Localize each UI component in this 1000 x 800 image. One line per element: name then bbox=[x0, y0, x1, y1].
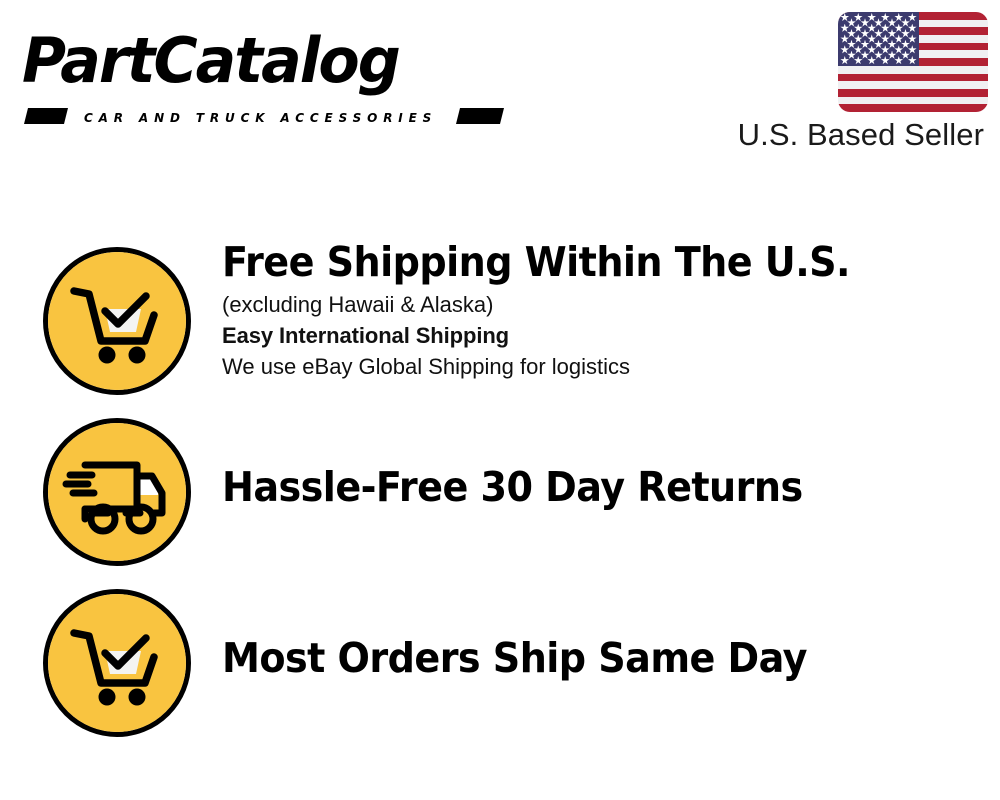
flag-star bbox=[854, 13, 863, 22]
flag-star bbox=[867, 13, 876, 22]
flag-star bbox=[874, 51, 883, 60]
flag-star bbox=[901, 18, 910, 27]
flag-star bbox=[888, 40, 897, 49]
flag-star bbox=[874, 18, 883, 27]
flag-star bbox=[854, 45, 863, 54]
flag-star bbox=[908, 34, 917, 43]
flag-star bbox=[840, 24, 849, 33]
flag-star bbox=[894, 13, 903, 22]
feature-text-block: Most Orders Ship Same Day bbox=[222, 634, 982, 682]
flag-star bbox=[854, 24, 863, 33]
brand-tagline: CAR AND TRUCK ACCESSORIES bbox=[84, 110, 437, 125]
flag-star bbox=[894, 34, 903, 43]
flag-stripe bbox=[838, 104, 988, 112]
flag-star bbox=[840, 13, 849, 22]
flag-star bbox=[901, 40, 910, 49]
us-flag-icon bbox=[838, 12, 988, 112]
brand-wordmark: PartCatalog bbox=[22, 18, 399, 104]
flag-star bbox=[874, 29, 883, 38]
flag-star bbox=[840, 45, 849, 54]
flag-star bbox=[854, 56, 863, 65]
flag-star bbox=[894, 56, 903, 65]
feature-subline: We use eBay Global Shipping for logistic… bbox=[222, 351, 982, 382]
flag-star bbox=[908, 13, 917, 22]
flag-star bbox=[867, 34, 876, 43]
feature-heading: Free Shipping Within The U.S. bbox=[222, 238, 929, 286]
feature-item: Most Orders Ship Same Day bbox=[40, 585, 980, 737]
shopping-cart-check-icon bbox=[43, 589, 191, 737]
banner-header: PartCatalog CAR AND TRUCK ACCESSORIES U.… bbox=[0, 0, 1000, 175]
flag-star bbox=[908, 45, 917, 54]
flag-star bbox=[840, 34, 849, 43]
flag-star bbox=[888, 29, 897, 38]
flag-star bbox=[874, 40, 883, 49]
feature-text-block: Hassle-Free 30 Day Returns bbox=[222, 463, 982, 511]
flag-star bbox=[861, 51, 870, 60]
flag-star bbox=[894, 24, 903, 33]
flag-star bbox=[908, 24, 917, 33]
feature-subline: (excluding Hawaii & Alaska) bbox=[222, 289, 982, 320]
logo-descender-left bbox=[24, 108, 68, 124]
flag-star bbox=[888, 18, 897, 27]
shopping-cart-check-icon bbox=[43, 247, 191, 395]
us-based-seller-label: U.S. Based Seller bbox=[738, 117, 984, 153]
flag-star bbox=[908, 56, 917, 65]
feature-heading: Hassle-Free 30 Day Returns bbox=[222, 463, 929, 511]
flag-star bbox=[867, 45, 876, 54]
flag-star bbox=[861, 40, 870, 49]
feature-subline: Easy International Shipping bbox=[222, 320, 982, 351]
feature-item: Hassle-Free 30 Day Returns bbox=[40, 414, 980, 566]
flag-star bbox=[901, 29, 910, 38]
feature-item: Free Shipping Within The U.S. (excluding… bbox=[40, 243, 980, 395]
feature-text-block: Free Shipping Within The U.S. (excluding… bbox=[222, 238, 982, 382]
flag-star bbox=[847, 18, 856, 27]
flag-star bbox=[881, 56, 890, 65]
flag-star bbox=[881, 34, 890, 43]
flag-star bbox=[894, 45, 903, 54]
flag-canton bbox=[838, 12, 919, 66]
flag-star bbox=[861, 29, 870, 38]
flag-star bbox=[901, 51, 910, 60]
logo-descender-right bbox=[456, 108, 504, 124]
flag-star bbox=[881, 13, 890, 22]
flag-star bbox=[861, 18, 870, 27]
brand-logo: PartCatalog CAR AND TRUCK ACCESSORIES bbox=[22, 22, 492, 112]
flag-star bbox=[847, 29, 856, 38]
flag-star bbox=[867, 24, 876, 33]
flag-star bbox=[888, 51, 897, 60]
flag-star bbox=[847, 40, 856, 49]
flag-star bbox=[881, 24, 890, 33]
flag-star bbox=[881, 45, 890, 54]
flag-star bbox=[867, 56, 876, 65]
flag-star bbox=[854, 34, 863, 43]
flag-star bbox=[840, 56, 849, 65]
feature-heading: Most Orders Ship Same Day bbox=[222, 634, 929, 682]
delivery-truck-icon bbox=[43, 418, 191, 566]
flag-star bbox=[847, 51, 856, 60]
